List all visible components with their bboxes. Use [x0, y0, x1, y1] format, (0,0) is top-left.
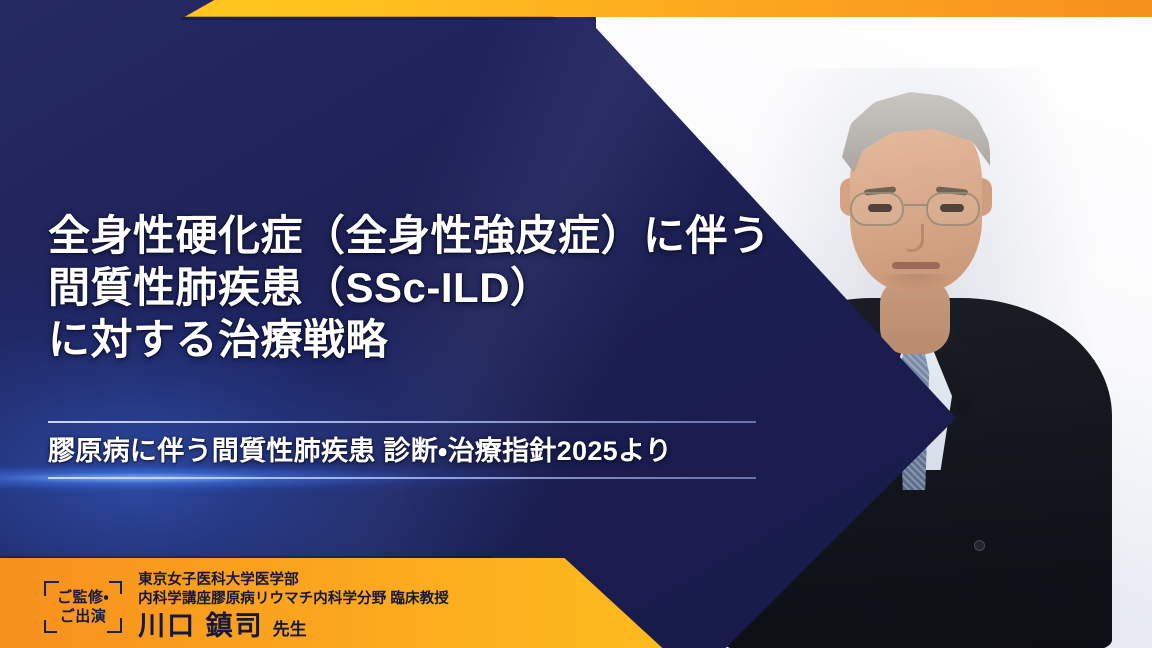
- title-block: 全身性硬化症（全身性強皮症）に伴う 間質性肺疾患（SSc-ILD） に対する治療…: [48, 210, 808, 366]
- credits-role-line-1: ご監修・: [57, 588, 109, 607]
- bracket-corner-top-right: [109, 581, 122, 594]
- credits-affiliation-line-1: 東京女子医科大学医学部: [138, 571, 449, 590]
- portrait-chin-shading: [880, 274, 952, 292]
- credits-role-bracket: ご監修・ ご出演: [44, 581, 122, 633]
- subtitle-divider-bottom: [48, 477, 756, 479]
- credits-presenter-name: 川口 鎮司: [138, 611, 264, 642]
- credits-presenter-honorific: 先生: [273, 620, 307, 640]
- title-slide: 全身性硬化症（全身性強皮症）に伴う 間質性肺疾患（SSc-ILD） に対する治療…: [0, 0, 1152, 648]
- subtitle-divider-top: [48, 421, 756, 423]
- portrait-lens-right: [926, 192, 980, 226]
- title-line-2: 間質性肺疾患（SSc-ILD）: [48, 262, 808, 314]
- title-line-3: に対する治療戦略: [48, 314, 808, 366]
- portrait-mouth: [892, 262, 940, 269]
- portrait-glasses-bridge: [904, 204, 928, 206]
- portrait-lens-left: [850, 192, 904, 226]
- title-line-1: 全身性硬化症（全身性強皮症）に伴う: [48, 210, 808, 262]
- portrait-jacket-button: [974, 540, 985, 551]
- bracket-corner-bottom-left: [44, 620, 57, 633]
- credits-name-row: 川口 鎮司 先生: [138, 611, 449, 642]
- credits-affiliation-line-2: 内科学講座膠原病リウマチ内科学分野 臨床教授: [138, 590, 449, 609]
- credits-details: 東京女子医科大学医学部 内科学講座膠原病リウマチ内科学分野 臨床教授 川口 鎮司…: [138, 571, 449, 642]
- subtitle-text: 膠原病に伴う間質性肺疾患 診断・治療指針2025より: [48, 432, 672, 470]
- credits-block: ご監修・ ご出演 東京女子医科大学医学部 内科学講座膠原病リウマチ内科学分野 臨…: [44, 571, 449, 642]
- credits-role-line-2: ご出演: [57, 607, 109, 626]
